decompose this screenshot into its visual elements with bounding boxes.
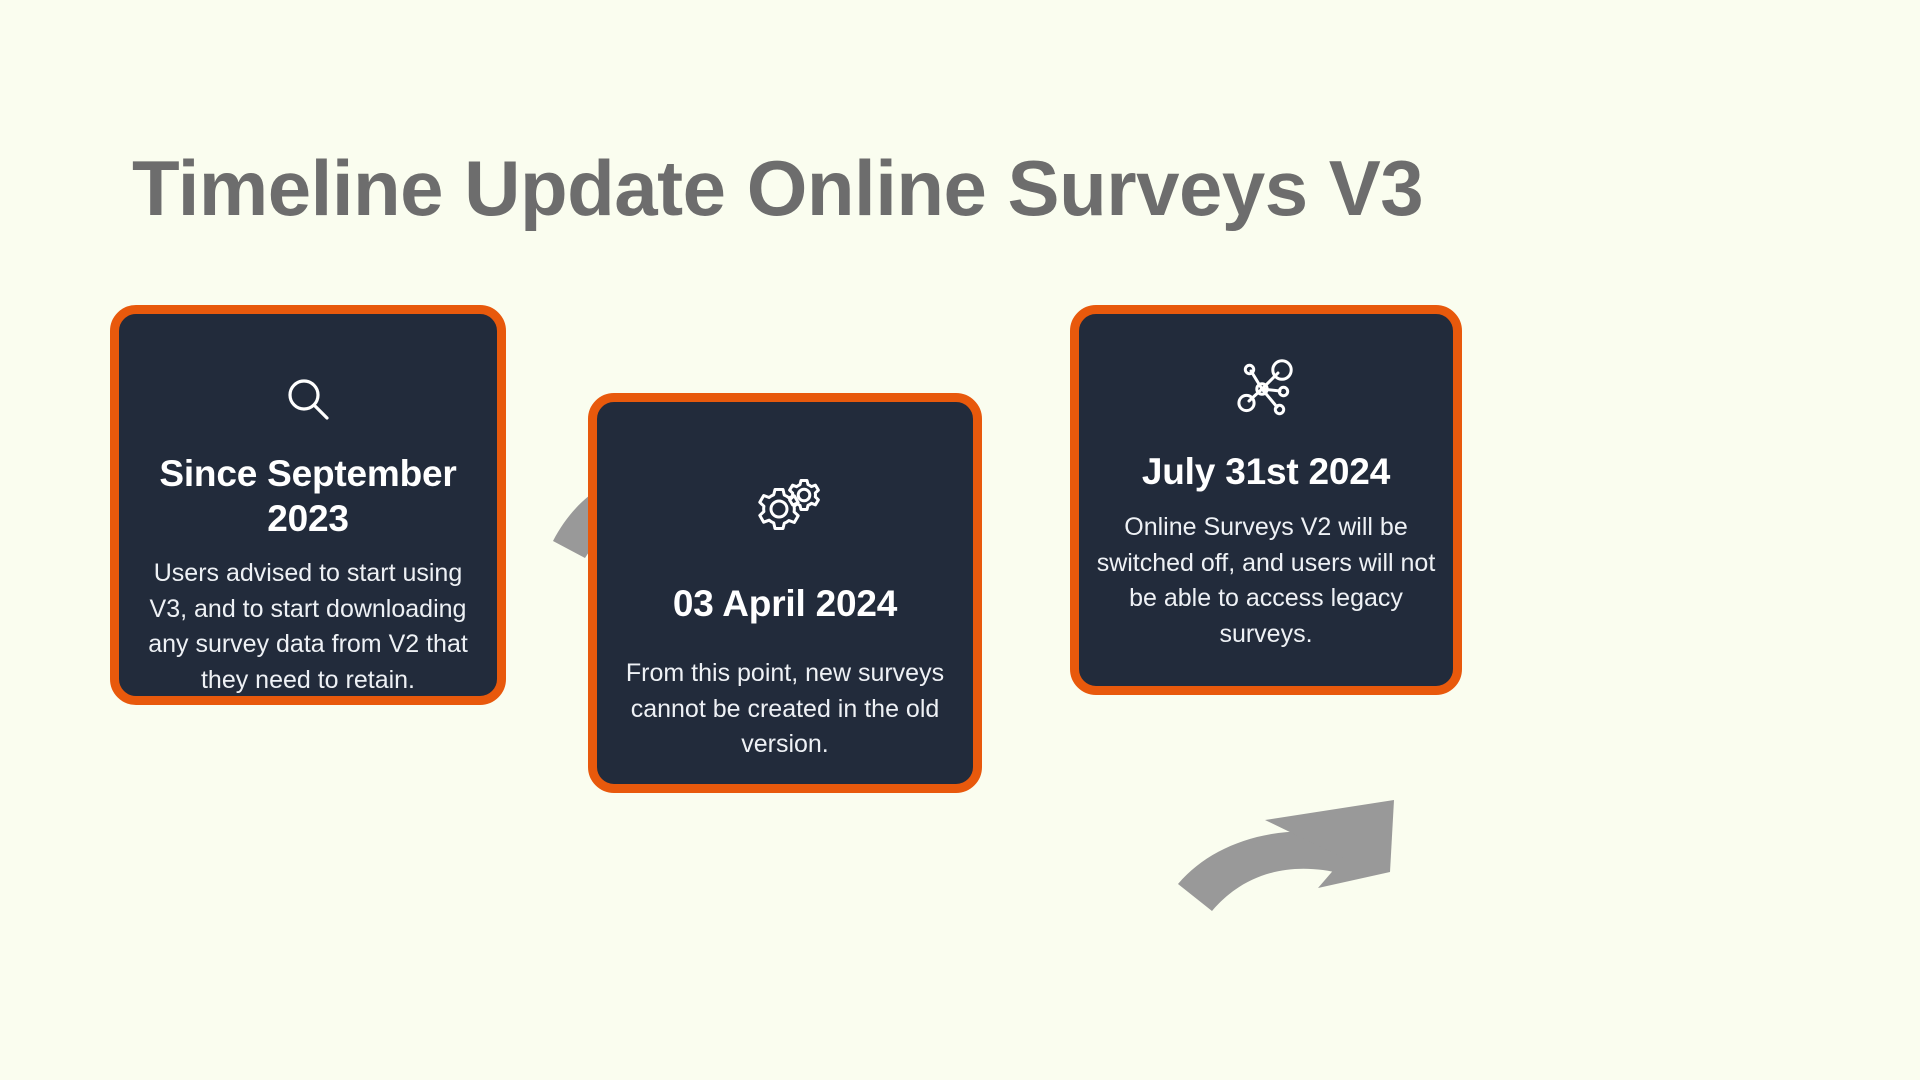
timeline-card-heading: 03 April 2024 bbox=[620, 581, 950, 626]
timeline-card-body: From this point, new surveys cannot be c… bbox=[620, 656, 950, 763]
timeline-card-03-april-2024[interactable]: 03 April 2024 From this point, new surve… bbox=[588, 393, 982, 793]
timeline-card-body: Online Surveys V2 will be switched off, … bbox=[1096, 510, 1436, 652]
arrow-card2-to-card3 bbox=[1178, 800, 1394, 911]
timeline-card-body: Users advised to start using V3, and to … bbox=[143, 556, 473, 698]
timeline-card-july-31st-2024[interactable]: July 31st 2024 Online Surveys V2 will be… bbox=[1070, 305, 1462, 695]
timeline-card-heading: Since September 2023 bbox=[143, 451, 473, 541]
timeline-card-since-september-2023[interactable]: Since September 2023 Users advised to st… bbox=[110, 305, 506, 705]
gears-icon bbox=[747, 478, 823, 543]
timeline-card-heading: July 31st 2024 bbox=[1096, 449, 1436, 494]
page-title: Timeline Update Online Surveys V3 bbox=[132, 148, 1832, 230]
search-icon bbox=[280, 372, 336, 433]
infographic-canvas: Timeline Update Online Surveys V3 Since … bbox=[0, 0, 1920, 1080]
network-nodes-icon bbox=[1235, 358, 1297, 425]
